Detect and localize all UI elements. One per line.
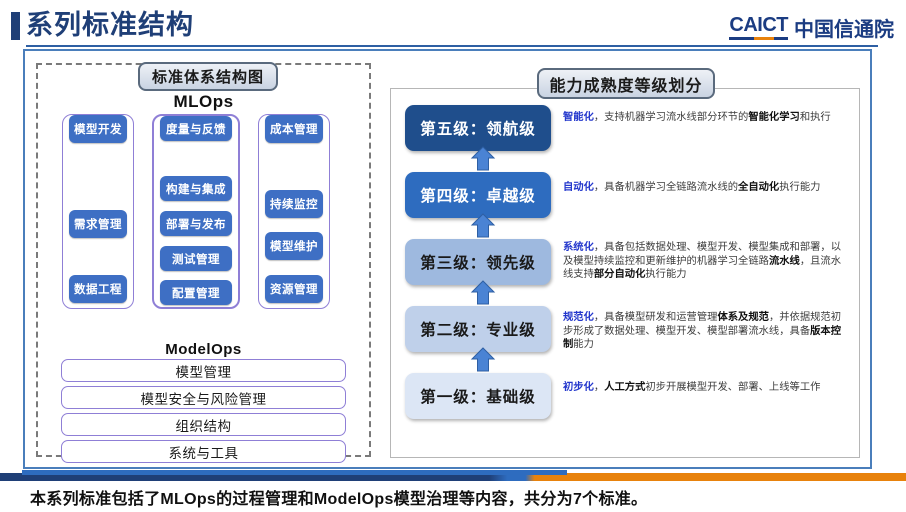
level-box-5[interactable]: 第五级：领航级	[405, 105, 551, 151]
header-divider	[26, 45, 878, 47]
bottom-accent-bar-secondary	[22, 470, 567, 475]
standards-structure-badge: 标准体系结构图	[138, 62, 278, 91]
level-desc-suffix2: 能力	[573, 339, 594, 350]
level-box-1[interactable]: 第一级：基础级	[405, 373, 551, 419]
level-desc-prefix: ，具备机器学习全链路流水线的	[594, 182, 738, 193]
level-keyword: 智能化	[563, 112, 594, 123]
column-development-management: 开发管理 需求管理 数据工程 模型开发	[62, 114, 134, 309]
chip-build-integration[interactable]: 构建与集成	[160, 176, 232, 201]
level-description-5: 智能化，支持机器学习流水线部分环节的智能化学习和执行	[563, 111, 849, 125]
level-description-3: 系统化，具备包括数据处理、模型开发、模型集成和部署，以及模型持续监控和更新维护的…	[563, 241, 849, 282]
maturity-levels-region: 第五级：领航级 第四级：卓越级 第三级：领先级 第二级：专业级 第一级：基础级 …	[390, 88, 860, 458]
level-keyword: 系统化	[563, 242, 594, 253]
level-desc-bold: 智能化学习	[748, 112, 799, 123]
page-header: 系列标准结构 CAICT 中国信通院	[0, 0, 906, 46]
level-desc-prefix: ，	[594, 382, 604, 393]
chip-test-management[interactable]: 测试管理	[160, 246, 232, 271]
column-model-delivery: 模型交付 构建与集成 部署与发布 测试管理 配置管理 度量与反馈	[152, 114, 240, 309]
caict-logo: CAICT 中国信通院	[729, 14, 894, 40]
modelops-item-systems-tools[interactable]: 系统与工具	[61, 440, 346, 463]
chip-deploy-release[interactable]: 部署与发布	[160, 211, 232, 236]
modelops-item-security-risk[interactable]: 模型安全与风险管理	[61, 386, 346, 409]
level-keyword: 规范化	[563, 312, 594, 323]
modelops-item-model-management[interactable]: 模型管理	[61, 359, 346, 382]
up-arrow-icon	[470, 280, 496, 306]
level-desc-bold2: 部分自动化	[594, 269, 645, 280]
level-keyword: 初步化	[563, 382, 594, 393]
up-arrow-icon	[470, 347, 496, 373]
chip-resource-management[interactable]: 资源管理	[265, 275, 323, 303]
level-box-3[interactable]: 第三级：领先级	[405, 239, 551, 285]
chip-model-development[interactable]: 模型开发	[69, 115, 127, 143]
logo-chinese-name: 中国信通院	[794, 13, 894, 42]
level-description-4: 自动化，具备机器学习全链路流水线的全自动化执行能力	[563, 181, 849, 195]
modelops-heading: ModelOps	[36, 341, 371, 358]
chip-config-management[interactable]: 配置管理	[160, 280, 232, 305]
chip-requirement-management[interactable]: 需求管理	[69, 210, 127, 238]
level-description-1: 初步化，人工方式初步开展模型开发、部署、上线等工作	[563, 381, 849, 395]
chip-data-engineering[interactable]: 数据工程	[69, 275, 127, 303]
title-accent-bar	[11, 12, 20, 40]
up-arrow-icon	[470, 213, 496, 239]
up-arrow-icon	[470, 146, 496, 172]
level-desc-suffix: 和执行	[800, 112, 831, 123]
caption-text: 本系列标准包括了MLOps的过程管理和ModelOps模型治理等内容，共分为7个…	[30, 485, 647, 509]
level-desc-bold: 体系及规范	[717, 312, 768, 323]
chip-cost-management[interactable]: 成本管理	[265, 115, 323, 143]
level-box-2[interactable]: 第二级：专业级	[405, 306, 551, 352]
level-keyword: 自动化	[563, 182, 594, 193]
level-desc-suffix: 执行能力	[779, 182, 820, 193]
maturity-levels-badge: 能力成熟度等级划分	[537, 68, 715, 99]
chip-model-maintenance[interactable]: 模型维护	[265, 232, 323, 260]
chip-continuous-monitoring[interactable]: 持续监控	[265, 190, 323, 218]
level-desc-suffix: 初步开展模型开发、部署、上线等工作	[645, 382, 820, 393]
level-box-4[interactable]: 第四级：卓越级	[405, 172, 551, 218]
mlops-heading: MLOps	[36, 92, 371, 112]
level-desc-bold: 人工方式	[604, 382, 645, 393]
level-desc-bold: 流水线	[769, 256, 800, 267]
modelops-item-organization[interactable]: 组织结构	[61, 413, 346, 436]
level-desc-prefix: ，支持机器学习流水线部分环节的	[594, 112, 748, 123]
level-desc-prefix: ，具备模型研发和运营管理	[594, 312, 718, 323]
column-model-operations: 模型运营 持续监控 模型维护 资源管理 成本管理	[258, 114, 330, 309]
logo-acronym: CAICT	[729, 14, 788, 40]
logo-underline-orange	[754, 37, 774, 40]
bottom-caption: 本系列标准包括了MLOps的过程管理和ModelOps模型治理等内容，共分为7个…	[0, 481, 906, 512]
chip-metrics-feedback[interactable]: 度量与反馈	[160, 116, 232, 141]
level-desc-bold: 全自动化	[738, 182, 779, 193]
logo-acronym-text: CAICT	[729, 14, 788, 36]
level-desc-suffix2: 执行能力	[645, 269, 686, 280]
level-description-2: 规范化，具备模型研发和运营管理体系及规范，并依据规范初步形成了数据处理、模型开发…	[563, 311, 849, 352]
page-title: 系列标准结构	[26, 7, 194, 43]
